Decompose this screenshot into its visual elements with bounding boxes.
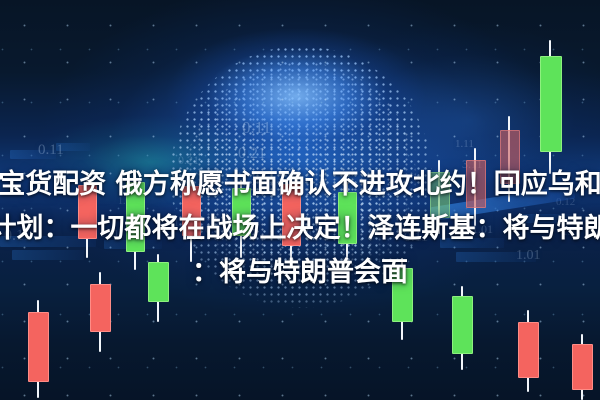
candlestick-bullish xyxy=(452,0,471,400)
candlestick-body xyxy=(182,186,201,236)
news-thumbnail-image: 0.110.110.210.211.113.110.111.011.010.04… xyxy=(0,0,600,400)
candlestick-bullish xyxy=(430,0,448,400)
candlestick-bearish xyxy=(518,0,537,400)
data-bar xyxy=(12,250,84,260)
candlestick-bullish xyxy=(148,0,167,400)
candlestick-body xyxy=(28,312,49,382)
candlestick-body xyxy=(232,188,251,236)
candlestick-bullish xyxy=(540,0,560,400)
candlestick-bearish xyxy=(282,0,299,400)
candlestick-body xyxy=(500,130,520,184)
candlestick-bearish xyxy=(90,0,109,400)
candlestick-body xyxy=(282,184,301,246)
candlestick-body xyxy=(430,172,450,218)
candlestick-bullish xyxy=(392,0,411,400)
candlestick-bearish xyxy=(500,0,518,400)
candlestick-bearish xyxy=(182,0,199,400)
candlestick-body xyxy=(452,296,473,354)
candlestick-bullish xyxy=(232,0,249,400)
candlestick-bullish xyxy=(338,0,355,400)
candlestick-bearish xyxy=(28,0,47,400)
candlestick-body xyxy=(572,344,593,390)
candlestick-body xyxy=(392,268,413,322)
candlestick-body xyxy=(126,182,145,252)
candlestick-body xyxy=(148,262,169,302)
candlestick-body xyxy=(540,56,562,152)
candlestick-bearish xyxy=(572,0,591,400)
candlestick-body xyxy=(90,284,111,332)
candlestick-bullish xyxy=(126,0,143,400)
candlestick-body xyxy=(338,192,357,244)
candlestick-body xyxy=(518,322,539,378)
